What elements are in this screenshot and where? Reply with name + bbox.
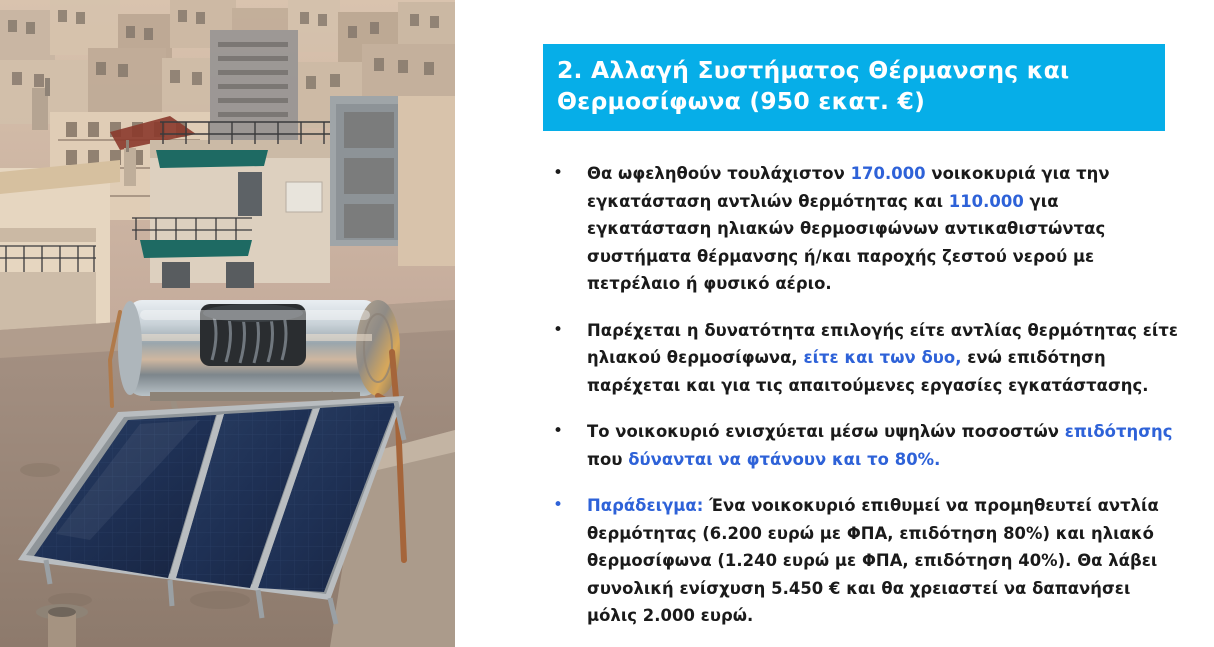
highlight-phrase: επιδότησης: [1065, 422, 1173, 441]
list-item-text: Θα ωφεληθούν τουλάχιστον 170.000 νοικοκυ…: [587, 160, 1183, 298]
bullet-point-icon: •: [543, 492, 587, 520]
example-label: Παράδειγμα:: [587, 496, 703, 515]
list-item: • Θα ωφεληθούν τουλάχιστον 170.000 νοικο…: [543, 160, 1183, 298]
text-segment: που: [587, 450, 628, 469]
text-segment: Ένα νοικοκυριό επιθυμεί να προμηθευτεί α…: [587, 496, 1159, 625]
list-item: • Το νοικοκυριό ενισχύεται μέσω υψηλών π…: [543, 418, 1183, 473]
solar-water-heater-photo: [0, 0, 455, 647]
slide-title-banner: 2. Αλλαγή Συστήματος Θέρμανσης και Θερμο…: [543, 44, 1165, 131]
slide-root: 2. Αλλαγή Συστήματος Θέρμανσης και Θερμο…: [0, 0, 1214, 647]
highlight-number: 110.000: [949, 192, 1024, 211]
highlight-number: 170.000: [851, 164, 926, 183]
photo-illustration: [0, 0, 455, 647]
highlight-phrase: είτε και των δυο,: [803, 348, 961, 367]
list-item: • Παρέχεται η δυνατότητα επιλογής είτε α…: [543, 317, 1183, 400]
bullet-point-icon: •: [543, 317, 587, 345]
list-item-text: Το νοικοκυριό ενισχύεται μέσω υψηλών ποσ…: [587, 418, 1183, 473]
list-item-text: Παράδειγμα: Ένα νοικοκυριό επιθυμεί να π…: [587, 492, 1183, 630]
bullet-list: • Θα ωφεληθούν τουλάχιστον 170.000 νοικο…: [543, 160, 1183, 630]
content-panel: 2. Αλλαγή Συστήματος Θέρμανσης και Θερμο…: [455, 0, 1214, 647]
page-title: 2. Αλλαγή Συστήματος Θέρμανσης και Θερμο…: [557, 55, 1151, 118]
text-segment: Το νοικοκυριό ενισχύεται μέσω υψηλών ποσ…: [587, 422, 1065, 441]
bullet-point-icon: •: [543, 418, 587, 446]
bullet-point-icon: •: [543, 160, 587, 188]
text-segment: Θα ωφεληθούν τουλάχιστον: [587, 164, 851, 183]
list-item: • Παράδειγμα: Ένα νοικοκυριό επιθυμεί να…: [543, 492, 1183, 630]
highlight-phrase: δύνανται να φτάνουν και το 80%.: [628, 450, 940, 469]
list-item-text: Παρέχεται η δυνατότητα επιλογής είτε αντ…: [587, 317, 1183, 400]
solar-tank: [118, 300, 400, 396]
